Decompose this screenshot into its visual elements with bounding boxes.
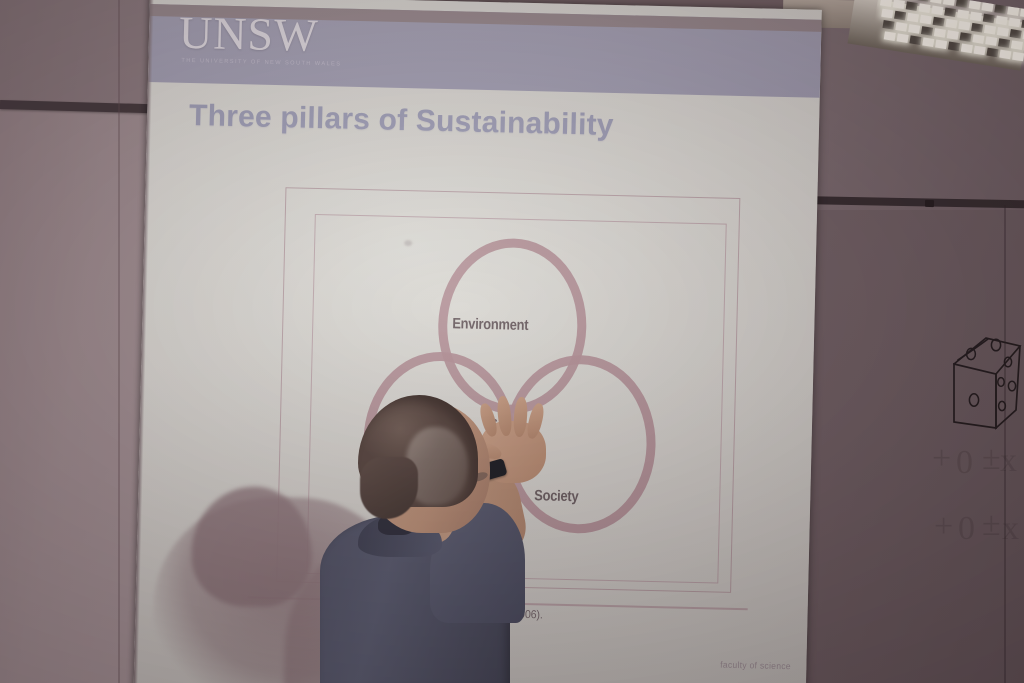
light-cell xyxy=(943,0,955,6)
light-cell xyxy=(986,48,998,58)
light-cell xyxy=(945,19,957,29)
light-cell xyxy=(958,21,970,31)
unsw-logo: UNSW xyxy=(179,11,319,58)
light-cell xyxy=(894,11,906,21)
light-cell xyxy=(997,27,1009,37)
light-cell xyxy=(944,8,956,18)
light-cell xyxy=(981,2,993,12)
light-cell xyxy=(956,0,968,8)
slide-title: Three pillars of Sustainability xyxy=(189,99,614,143)
light-cell xyxy=(931,5,943,15)
light-cell xyxy=(1020,8,1024,18)
light-cell xyxy=(1012,52,1024,62)
venn-label-environment: Environment xyxy=(452,315,528,334)
screen-smudge xyxy=(404,240,412,246)
wall-clip xyxy=(925,200,934,207)
light-cell xyxy=(895,22,907,32)
light-cell xyxy=(969,0,981,10)
light-cell xyxy=(907,13,919,23)
presenter-finger xyxy=(525,402,546,440)
light-cell xyxy=(996,16,1008,26)
light-cell xyxy=(917,0,929,2)
light-cell xyxy=(909,35,921,45)
light-cell xyxy=(934,28,946,38)
light-cell xyxy=(935,39,947,49)
light-cell xyxy=(1007,6,1019,16)
light-cell xyxy=(1011,40,1023,50)
light-cell xyxy=(919,3,931,13)
light-cell xyxy=(948,42,960,52)
light-cell xyxy=(970,12,982,22)
light-cell xyxy=(961,44,973,54)
left-wall-vertical-seam xyxy=(118,0,120,683)
light-cell xyxy=(893,0,905,9)
light-cell xyxy=(947,30,959,40)
light-cell xyxy=(920,15,932,25)
light-cell xyxy=(957,10,969,20)
light-cell xyxy=(1010,29,1022,39)
light-cell xyxy=(983,14,995,24)
light-cell xyxy=(974,46,986,56)
light-cell xyxy=(960,32,972,42)
light-cell xyxy=(930,0,942,4)
light-cell xyxy=(1008,18,1020,28)
light-cell xyxy=(908,24,920,34)
light-cell xyxy=(984,25,996,35)
light-cell xyxy=(882,20,894,30)
light-cell xyxy=(921,26,933,36)
light-cell xyxy=(971,23,983,33)
whiteboard-dice-drawing xyxy=(950,330,1024,445)
light-cell xyxy=(884,31,896,41)
presenter xyxy=(320,395,600,683)
slide-footer-faculty: faculty of science xyxy=(720,660,791,672)
light-cell xyxy=(906,1,918,11)
light-cell xyxy=(897,33,909,43)
whiteboard-erased-marks: + 0 ± x + 0 ± x xyxy=(930,440,1024,570)
light-cell xyxy=(998,38,1010,48)
lecture-room-photo: + 0 ± x + 0 ± x UNSW THE UNIVERSITY OF N… xyxy=(0,0,1024,683)
light-cell xyxy=(994,4,1006,14)
light-cell xyxy=(880,0,892,7)
light-cell xyxy=(999,50,1011,60)
light-cell xyxy=(972,34,984,44)
light-cell xyxy=(933,17,945,27)
light-cell xyxy=(985,36,997,46)
light-cell xyxy=(922,37,934,47)
light-cell xyxy=(881,9,893,19)
